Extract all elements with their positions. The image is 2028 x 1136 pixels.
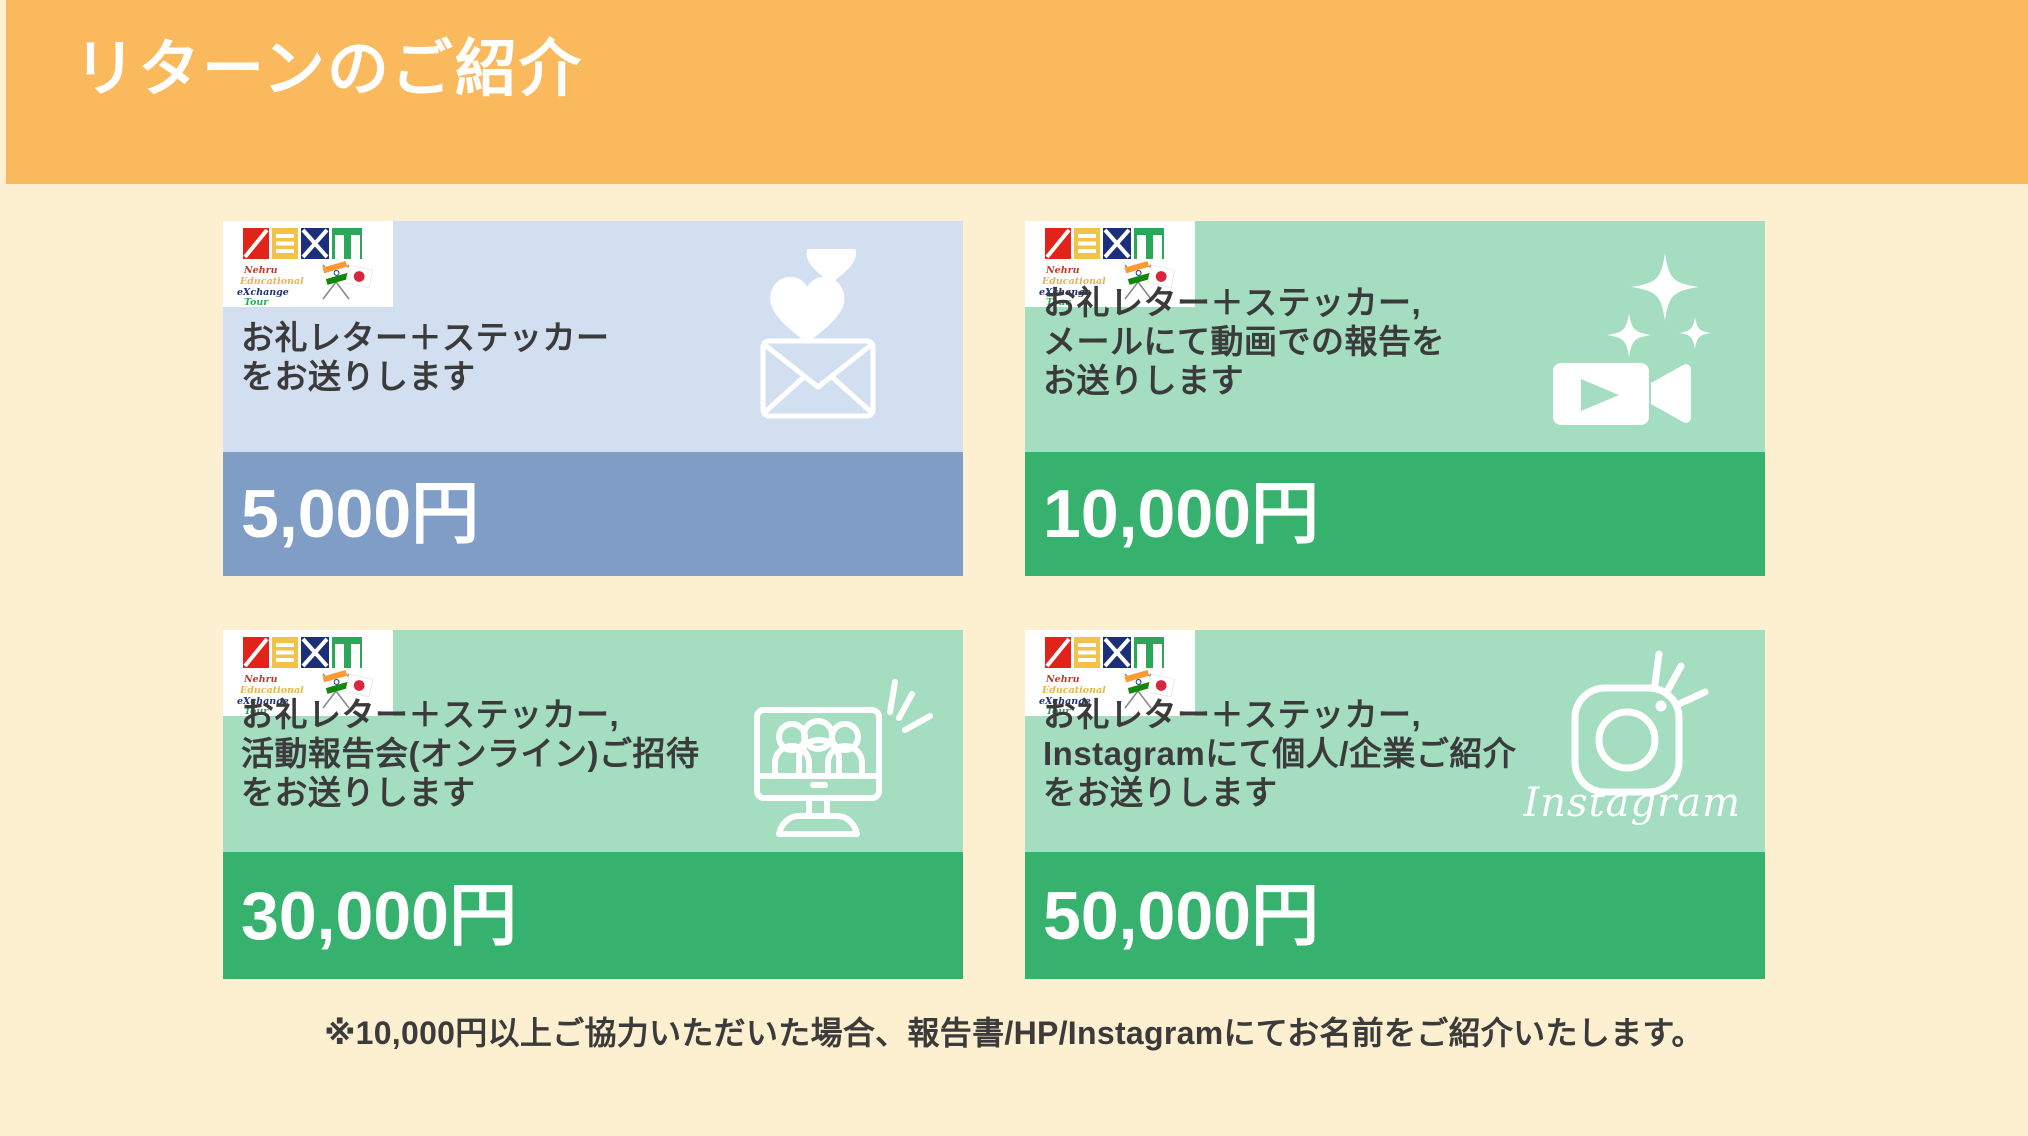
page-title: リターンのご紹介 <box>74 36 583 104</box>
price-amount: 10,000円 <box>1043 480 1319 548</box>
price-amount: 30,000円 <box>241 882 517 950</box>
svg-text:Educational: Educational <box>239 276 304 287</box>
return-card-10000[interactable]: Nehru Educational eXchange Tour <box>1025 221 1765 576</box>
online-meeting-monitor-icon <box>749 668 939 848</box>
card-price-band: 5,000円 <box>223 452 963 576</box>
slide-root: リターンのご紹介 <box>0 0 2028 1136</box>
next-logo: Nehru Educational eXchange Tour <box>223 221 393 307</box>
card-description: お礼レター＋ステッカー, Instagramにて個人/企業ご紹介 をお送りします <box>1043 696 1516 813</box>
returns-card-grid: Nehru Educational eXchange Tour <box>223 221 1765 979</box>
svg-text:Tour: Tour <box>244 297 269 307</box>
card-body: Nehru Educational eXchange Tour <box>223 221 963 452</box>
return-card-30000[interactable]: Nehru Educational eXchange Tour <box>223 630 963 979</box>
card-body: Nehru Educational eXchange Tour <box>1025 221 1765 452</box>
return-card-5000[interactable]: Nehru Educational eXchange Tour <box>223 221 963 576</box>
price-amount: 50,000円 <box>1043 882 1319 950</box>
svg-text:Nehru: Nehru <box>1045 674 1080 685</box>
svg-text:Nehru: Nehru <box>243 265 278 276</box>
card-description: お礼レター＋ステッカー をお送りします <box>241 319 610 397</box>
instagram-wordmark: Instagram <box>1523 780 1741 826</box>
footnote-text: ※10,000円以上ご協力いただいた場合、報告書/HP/Instagramにてお… <box>0 1008 2028 1054</box>
header-banner: リターンのご紹介 <box>6 0 2028 184</box>
svg-text:Educational: Educational <box>1041 685 1106 696</box>
envelope-hearts-icon <box>745 249 945 419</box>
card-price-band: 30,000円 <box>223 852 963 979</box>
svg-text:Educational: Educational <box>239 685 304 696</box>
price-amount: 5,000円 <box>241 480 479 548</box>
return-card-50000[interactable]: Nehru Educational eXchange Tour <box>1025 630 1765 979</box>
card-price-band: 50,000円 <box>1025 852 1765 979</box>
svg-text:Nehru: Nehru <box>1045 265 1080 276</box>
card-description: お礼レター＋ステッカー, メールにて動画での報告を お送りします <box>1043 284 1445 401</box>
video-camera-sparkles-icon <box>1537 235 1747 435</box>
svg-text:Nehru: Nehru <box>243 674 278 685</box>
card-description: お礼レター＋ステッカー, 活動報告会(オンライン)ご招待 をお送りします <box>241 696 699 813</box>
instagram-camera-icon: Instagram <box>1555 640 1755 830</box>
card-body: Nehru Educational eXchange Tour <box>223 630 963 852</box>
card-body: Nehru Educational eXchange Tour <box>1025 630 1765 852</box>
card-price-band: 10,000円 <box>1025 452 1765 576</box>
